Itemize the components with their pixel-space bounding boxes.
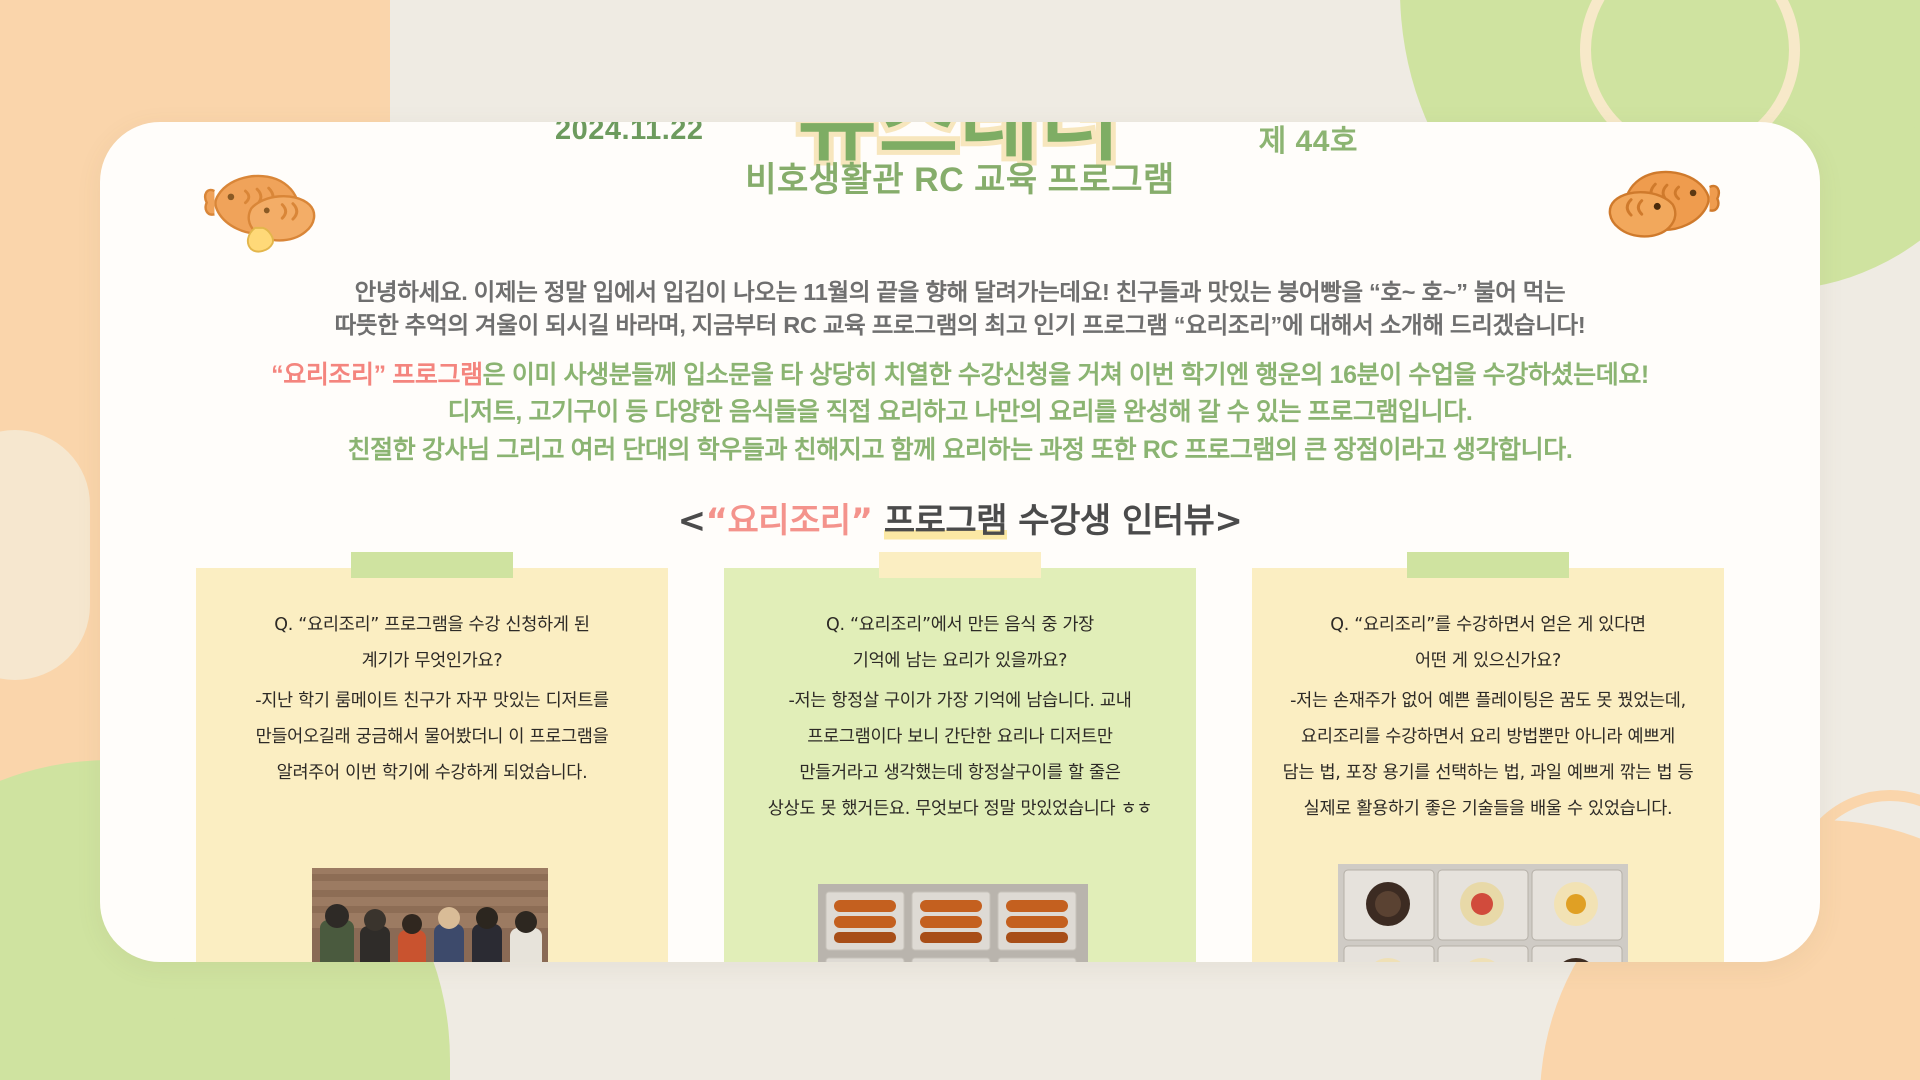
heading-program-name: “요리조리” bbox=[706, 501, 873, 541]
answer-line-3: 만들거라고 생각했는데 항정살구이를 할 줄은 bbox=[750, 756, 1170, 792]
heading-open-bracket: < bbox=[678, 501, 706, 541]
pill-decoration-left bbox=[0, 430, 90, 680]
answer-line-1: -저는 항정살 구이가 가장 기억에 남습니다. 교내 bbox=[750, 684, 1170, 720]
intro-green-line-3: 친절한 강사님 그리고 여러 단대의 학우들과 친해지고 함께 요리하는 과정 … bbox=[100, 432, 1820, 470]
washi-tape bbox=[351, 552, 513, 578]
cooking-class-photo bbox=[312, 868, 548, 962]
question-line-2: 어떤 게 있으신가요? bbox=[1278, 644, 1698, 680]
answer-line-2: 프로그램이다 보니 간단한 요리나 디저트만 bbox=[750, 720, 1170, 756]
page-subtitle: 비호생활관 RC 교육 프로그램 bbox=[100, 152, 1820, 201]
answer-line-3: 알려주어 이번 학기에 수강하게 되었습니다. bbox=[222, 756, 642, 792]
newsletter-header: 2024.11.22 뉴스레터 제 44호 비호생활관 RC 교육 프로그램 bbox=[100, 122, 1820, 282]
taiyaki-icon bbox=[200, 162, 318, 254]
answer-text: -저는 손재주가 없어 예쁜 플레이팅은 꿈도 못 꿨었는데, 요리조리를 수강… bbox=[1278, 684, 1698, 828]
interview-card: Q. “요리조리”에서 만든 음식 중 가장 기억에 남는 요리가 있을까요? … bbox=[724, 568, 1196, 962]
question-text: Q. “요리조리” 프로그램을 수강 신청하게 된 계기가 무엇인가요? bbox=[222, 608, 642, 680]
answer-line-2: 요리조리를 수강하면서 요리 방법뿐만 아니라 예쁘게 bbox=[1278, 720, 1698, 756]
grilled-pork-trays-photo bbox=[818, 884, 1088, 962]
answer-line-1: -지난 학기 룸메이트 친구가 자꾸 맛있는 디저트를 bbox=[222, 684, 642, 720]
heading-rest: 수강생 인터뷰 bbox=[1018, 501, 1214, 541]
question-line-2: 계기가 무엇인가요? bbox=[222, 644, 642, 680]
question-text: Q. “요리조리”를 수강하면서 얻은 게 있다면 어떤 게 있으신가요? bbox=[1278, 608, 1698, 680]
intro-green-line-1-rest: 은 이미 사생분들께 입소문을 타 상당히 치열한 수강신청을 거쳐 이번 학기… bbox=[483, 361, 1649, 389]
question-line-1: Q. “요리조리”에서 만든 음식 중 가장 bbox=[750, 608, 1170, 644]
heading-close-bracket: > bbox=[1214, 501, 1242, 541]
answer-text: -저는 항정살 구이가 가장 기억에 남습니다. 교내 프로그램이다 보니 간단… bbox=[750, 684, 1170, 828]
answer-line-1: -저는 손재주가 없어 예쁜 플레이팅은 꿈도 못 꿨었는데, bbox=[1278, 684, 1698, 720]
washi-tape bbox=[879, 552, 1041, 578]
intro-green-line-2: 디저트, 고기구이 등 다양한 음식들을 직접 요리하고 나만의 요리를 완성해… bbox=[100, 394, 1820, 432]
question-line-1: Q. “요리조리” 프로그램을 수강 신청하게 된 bbox=[222, 608, 642, 644]
intro-section: 안녕하세요. 이제는 정말 입에서 입김이 나오는 11월의 끝을 향해 달려가… bbox=[100, 276, 1820, 469]
interview-card: Q. “요리조리”를 수강하면서 얻은 게 있다면 어떤 게 있으신가요? -저… bbox=[1252, 568, 1724, 962]
washi-tape bbox=[1407, 552, 1569, 578]
heading-underlined-word: 프로그램 bbox=[884, 501, 1007, 541]
interview-card: Q. “요리조리” 프로그램을 수강 신청하게 된 계기가 무엇인가요? -지난… bbox=[196, 568, 668, 962]
intro-line-2: 따뜻한 추억의 겨울이 되시길 바라며, 지금부터 RC 교육 프로그램의 최고… bbox=[100, 309, 1820, 342]
program-name-highlight: “요리조리” 프로그램 bbox=[271, 361, 483, 389]
question-line-1: Q. “요리조리”를 수강하면서 얻은 게 있다면 bbox=[1278, 608, 1698, 644]
question-text: Q. “요리조리”에서 만든 음식 중 가장 기억에 남는 요리가 있을까요? bbox=[750, 608, 1170, 680]
intro-green-block: “요리조리” 프로그램은 이미 사생분들께 입소문을 타 상당히 치열한 수강신… bbox=[100, 357, 1820, 470]
interview-heading: <“요리조리” 프로그램 수강생 인터뷰> bbox=[100, 493, 1820, 542]
taiyaki-icon bbox=[1606, 158, 1724, 250]
newsletter-sheet: 2024.11.22 뉴스레터 제 44호 비호생활관 RC 교육 프로그램 bbox=[100, 122, 1820, 962]
answer-line-3: 담는 법, 포장 용기를 선택하는 법, 과일 예쁘게 깎는 법 등 bbox=[1278, 756, 1698, 792]
question-line-2: 기억에 남는 요리가 있을까요? bbox=[750, 644, 1170, 680]
answer-line-4: 실제로 활용하기 좋은 기술들을 배울 수 있었습니다. bbox=[1278, 792, 1698, 828]
answer-line-4: 상상도 못 했거든요. 무엇보다 정말 맛있었습니다 ㅎㅎ bbox=[750, 792, 1170, 828]
interview-cards: Q. “요리조리” 프로그램을 수강 신청하게 된 계기가 무엇인가요? -지난… bbox=[100, 568, 1820, 962]
dessert-boxes-photo bbox=[1338, 864, 1628, 962]
answer-text: -지난 학기 룸메이트 친구가 자꾸 맛있는 디저트를 만들어오길래 궁금해서 … bbox=[222, 684, 642, 792]
answer-line-2: 만들어오길래 궁금해서 물어봤더니 이 프로그램을 bbox=[222, 720, 642, 756]
intro-green-line-1: “요리조리” 프로그램은 이미 사생분들께 입소문을 타 상당히 치열한 수강신… bbox=[100, 357, 1820, 395]
